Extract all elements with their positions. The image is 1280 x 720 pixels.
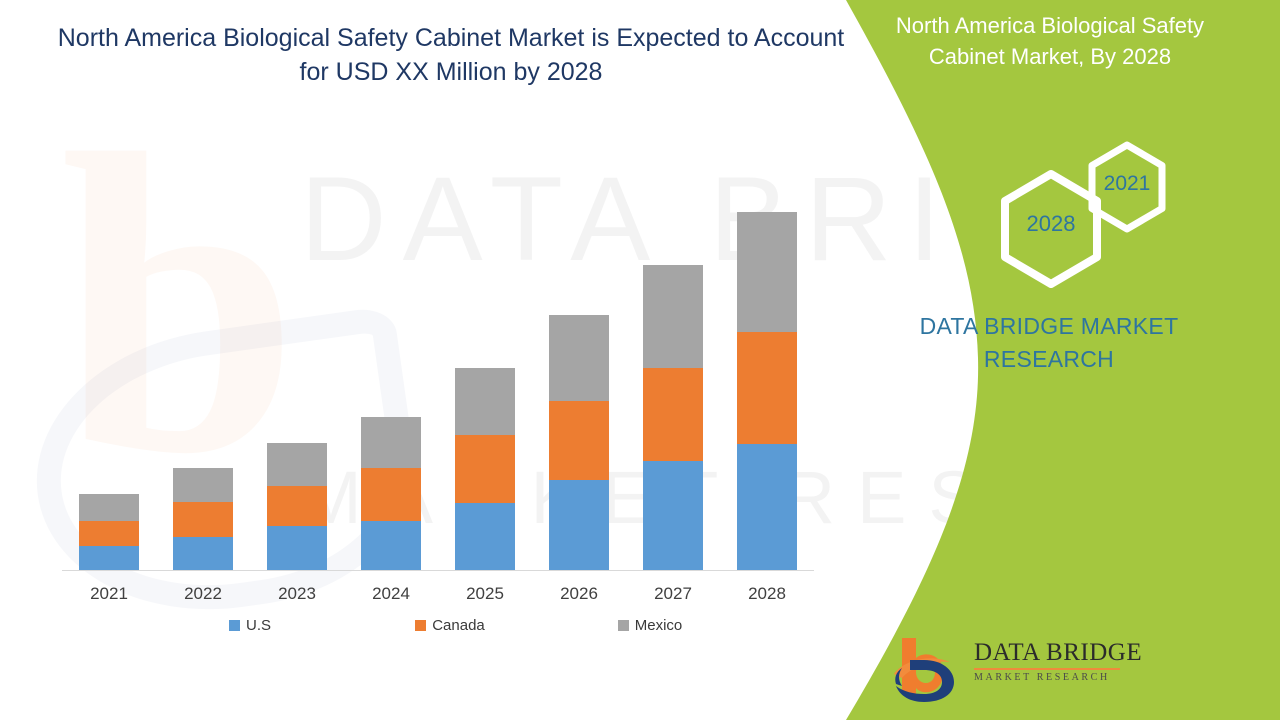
stacked-bar[interactable] bbox=[549, 315, 609, 570]
bar-segment-mexico[interactable] bbox=[455, 368, 515, 435]
chart-plot-area bbox=[62, 180, 814, 570]
x-axis-labels: 20212022202320242025202620272028 bbox=[62, 584, 814, 604]
stacked-bar[interactable] bbox=[267, 443, 327, 570]
infographic-canvas: b DATA BRIDGE MARKET RESEARCH North Amer… bbox=[0, 0, 1280, 720]
bar-group-2027 bbox=[626, 180, 720, 570]
x-axis-label-2026: 2026 bbox=[532, 584, 626, 604]
x-axis-label-2022: 2022 bbox=[156, 584, 250, 604]
bar-series-container bbox=[62, 180, 814, 570]
bar-group-2022 bbox=[156, 180, 250, 570]
bar-segment-mexico[interactable] bbox=[737, 212, 797, 332]
bar-segment-mexico[interactable] bbox=[79, 494, 139, 521]
bar-group-2025 bbox=[438, 180, 532, 570]
panel-title: North America Biological Safety Cabinet … bbox=[856, 10, 1244, 72]
logo-divider bbox=[974, 668, 1120, 670]
chart-legend: U.SCanadaMexico bbox=[150, 617, 750, 634]
bar-segment-mexico[interactable] bbox=[267, 443, 327, 486]
bar-segment-us[interactable] bbox=[549, 480, 609, 570]
bar-segment-us[interactable] bbox=[737, 444, 797, 570]
x-axis-line bbox=[62, 570, 814, 571]
company-logo: DATA BRIDGE MARKET RESEARCH bbox=[890, 634, 1120, 706]
bar-group-2023 bbox=[250, 180, 344, 570]
legend-swatch-icon bbox=[229, 620, 240, 631]
hexagon-big-label: 2028 bbox=[992, 211, 1110, 237]
hexagon-2028: 2028 bbox=[992, 168, 1110, 290]
bar-segment-canada[interactable] bbox=[361, 468, 421, 521]
legend-swatch-icon bbox=[618, 620, 629, 631]
bar-segment-mexico[interactable] bbox=[361, 417, 421, 468]
legend-label: U.S bbox=[246, 617, 271, 634]
bar-segment-us[interactable] bbox=[79, 546, 139, 570]
legend-item-canada[interactable]: Canada bbox=[350, 617, 550, 634]
chart-title: North America Biological Safety Cabinet … bbox=[48, 22, 854, 90]
hexagon-group: 2021 2028 bbox=[992, 140, 1192, 290]
bar-group-2021 bbox=[62, 180, 156, 570]
x-axis-label-2024: 2024 bbox=[344, 584, 438, 604]
logo-main-text: DATA BRIDGE bbox=[974, 640, 1120, 666]
bar-segment-mexico[interactable] bbox=[643, 265, 703, 368]
stacked-bar[interactable] bbox=[455, 368, 515, 570]
bar-segment-canada[interactable] bbox=[173, 502, 233, 537]
legend-label: Canada bbox=[432, 617, 485, 634]
stacked-bar[interactable] bbox=[173, 468, 233, 570]
bar-segment-us[interactable] bbox=[643, 461, 703, 570]
bar-segment-canada[interactable] bbox=[267, 486, 327, 526]
x-axis-label-2028: 2028 bbox=[720, 584, 814, 604]
legend-item-mexico[interactable]: Mexico bbox=[550, 617, 750, 634]
stacked-bar[interactable] bbox=[643, 265, 703, 570]
bar-group-2028 bbox=[720, 180, 814, 570]
logo-sub-text: MARKET RESEARCH bbox=[974, 672, 1120, 683]
bar-segment-canada[interactable] bbox=[549, 401, 609, 480]
x-axis-label-2023: 2023 bbox=[250, 584, 344, 604]
bar-segment-canada[interactable] bbox=[737, 332, 797, 444]
bar-group-2024 bbox=[344, 180, 438, 570]
stacked-bar[interactable] bbox=[737, 212, 797, 570]
bar-segment-mexico[interactable] bbox=[549, 315, 609, 401]
logo-wordmark: DATA BRIDGE MARKET RESEARCH bbox=[974, 640, 1120, 683]
stacked-bar[interactable] bbox=[361, 417, 421, 570]
x-axis-label-2025: 2025 bbox=[438, 584, 532, 604]
bar-group-2026 bbox=[532, 180, 626, 570]
bar-segment-mexico[interactable] bbox=[173, 468, 233, 502]
bar-segment-us[interactable] bbox=[361, 521, 421, 570]
legend-swatch-icon bbox=[415, 620, 426, 631]
x-axis-label-2021: 2021 bbox=[62, 584, 156, 604]
bar-segment-canada[interactable] bbox=[643, 368, 703, 461]
legend-item-us[interactable]: U.S bbox=[150, 617, 350, 634]
bar-segment-us[interactable] bbox=[267, 526, 327, 570]
bar-segment-us[interactable] bbox=[455, 503, 515, 570]
bar-segment-us[interactable] bbox=[173, 537, 233, 570]
logo-mark-icon bbox=[890, 634, 968, 706]
bar-segment-canada[interactable] bbox=[455, 435, 515, 503]
bar-segment-canada[interactable] bbox=[79, 521, 139, 546]
brand-name-text: DATA BRIDGE MARKET RESEARCH bbox=[854, 310, 1244, 375]
x-axis-label-2027: 2027 bbox=[626, 584, 720, 604]
legend-label: Mexico bbox=[635, 617, 683, 634]
stacked-bar[interactable] bbox=[79, 494, 139, 570]
